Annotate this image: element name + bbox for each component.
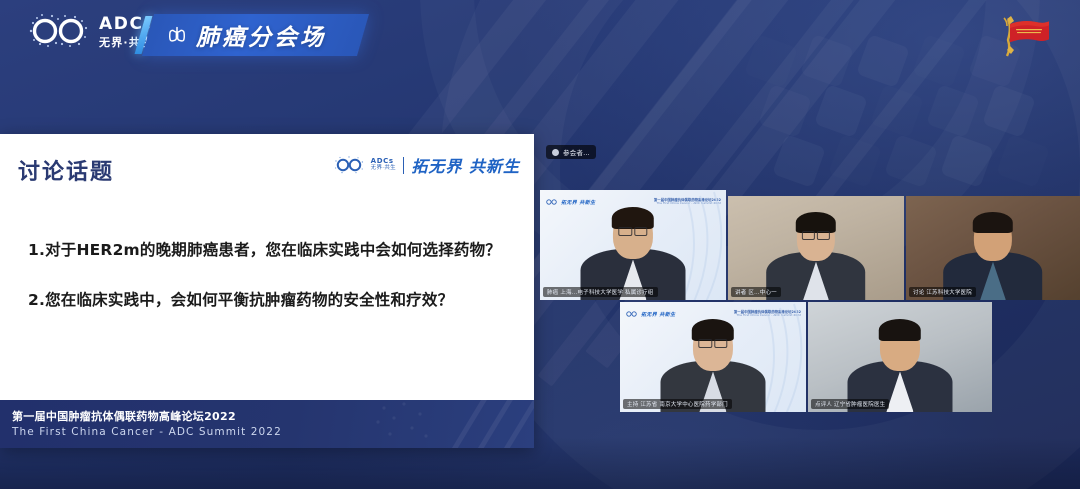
discussion-question: 2.您在临床实践中，会如何平衡抗肿瘤药物的安全性和疗效？: [28, 288, 514, 310]
participant-name-tag: 肺癌 上海…电子科技大学医学 私属诊疗组: [543, 287, 658, 297]
discussion-question: 1.对于HER2m的晚期肺癌患者，您在临床实践中会如何选择药物？: [28, 238, 514, 260]
discussion-question-list: 1.对于HER2m的晚期肺癌患者，您在临床实践中会如何选择药物？ 2.您在临床实…: [28, 238, 514, 338]
slide-logo-tagline: 无界·共生: [371, 166, 396, 172]
logo-main-text: ADC: [99, 14, 144, 34]
participant-name-tag: 点评人 辽宁省肿瘤医院医生: [811, 399, 889, 409]
participant-glasses: [619, 227, 648, 236]
slide-title: 讨论话题: [18, 154, 114, 186]
red-flag-emblem-icon: [994, 12, 1056, 60]
participant-figure: [767, 215, 866, 300]
video-feed: [906, 196, 1080, 300]
video-feed: [728, 196, 904, 300]
video-feed: 拓无界 共新生第一届中国肿瘤抗体偶联药物高峰论坛2022The First Ch…: [540, 190, 726, 300]
participant-glasses: [802, 231, 829, 240]
footer-title-cn: 第一届中国肿瘤抗体偶联药物高峰论坛2022: [12, 408, 236, 424]
presentation-screen: ADCs 无界·共生 肺癌分会场: [0, 0, 1080, 489]
video-feed: 拓无界 共新生第一届中国肿瘤抗体偶联药物高峰论坛2022The First Ch…: [620, 302, 806, 412]
active-speaker-badge: 参会者…: [546, 145, 596, 159]
event-logo: ADCs 无界·共生: [28, 13, 153, 49]
video-panel: 参会者… 拓无界 共新生第一届中国肿瘤抗体偶联药物高峰论坛2022The Fir…: [534, 134, 1080, 434]
mic-icon: [552, 149, 559, 156]
participant-tile-5[interactable]: 点评人 辽宁省肿瘤医院医生: [808, 302, 992, 412]
infinity-dots-icon: [334, 156, 364, 174]
participant-hair: [879, 319, 921, 341]
participant-glasses: [699, 339, 728, 348]
top-bar: ADCs 无界·共生 肺癌分会场: [0, 0, 1080, 72]
slide-footer: 第一届中国肿瘤抗体偶联药物高峰论坛2022 The First China Ca…: [0, 400, 534, 448]
slide-logo-divider: [403, 157, 405, 174]
participant-name-tag: 讨论 江苏科技大学医院: [909, 287, 976, 297]
participant-tile-4[interactable]: 拓无界 共新生第一届中国肿瘤抗体偶联药物高峰论坛2022The First Ch…: [620, 302, 806, 412]
participant-name-tag: 讲者 区…中心一: [731, 287, 781, 297]
active-speaker-name: 参会者…: [563, 147, 590, 157]
participant-tile-1[interactable]: 拓无界 共新生第一届中国肿瘤抗体偶联药物高峰论坛2022The First Ch…: [540, 190, 726, 300]
participant-tile-2[interactable]: 讲者 区…中心一: [728, 196, 904, 300]
slide-logo: ADCs 无界·共生 拓无界 共新生: [334, 153, 520, 177]
presentation-slide: 讨论话题 ADCs 无界·共生 拓无界 共新生 1.对于HER2m的晚期肺癌患者…: [0, 134, 534, 448]
participant-tile-3[interactable]: 讨论 江苏科技大学医院: [906, 196, 1080, 300]
footer-title-en: The First China Cancer - ADC Summit 2022: [12, 426, 282, 438]
infinity-dots-icon: [28, 13, 90, 49]
lungs-icon: [166, 24, 188, 46]
session-ribbon: 肺癌分会场: [142, 14, 369, 56]
slide-logo-slogan: 拓无界 共新生: [411, 153, 520, 177]
participant-hair: [973, 212, 1013, 233]
participant-name-tag: 主持 江苏省 南京大学中心医院药学部门: [623, 399, 732, 409]
footer-decoration: [324, 400, 534, 448]
session-title: 肺癌分会场: [196, 18, 326, 52]
video-feed: [808, 302, 992, 412]
